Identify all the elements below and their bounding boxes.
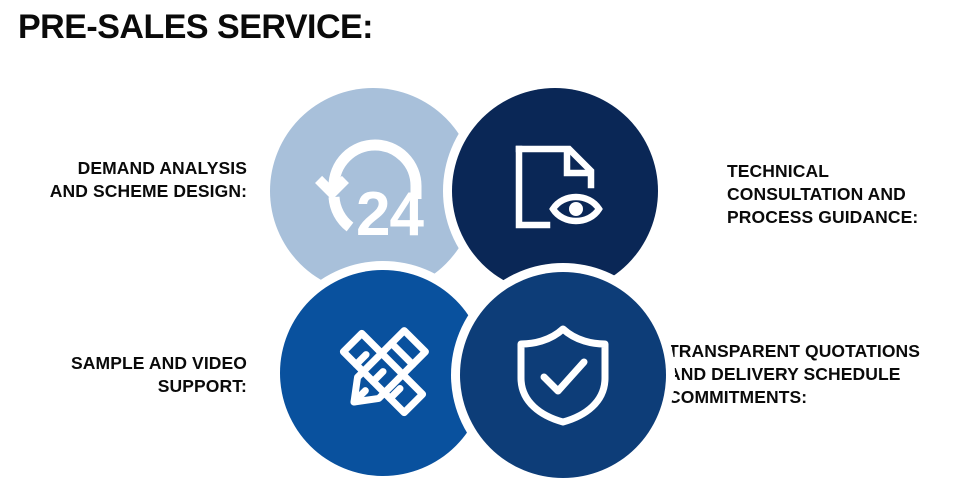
service-circle-quotations[interactable] (460, 272, 666, 478)
service-label-demand: DEMAND ANALYSIS AND SCHEME DESIGN: (0, 157, 247, 203)
document-eye-icon (503, 139, 607, 243)
service-circle-demand[interactable]: 24 (270, 88, 476, 294)
service-circle-cluster: 24 (262, 80, 682, 490)
shield-check-icon (513, 322, 613, 428)
service-label-technical: TECHNICAL CONSULTATION AND PROCESS GUIDA… (727, 160, 959, 228)
rotate-24-hours-icon: 24 (314, 137, 432, 245)
service-circle-technical[interactable] (452, 88, 658, 294)
pencil-ruler-icon (330, 320, 436, 426)
service-circle-sample[interactable] (280, 270, 486, 476)
service-label-sample: SAMPLE AND VIDEO SUPPORT: (0, 352, 247, 398)
service-label-quotations: TRANSPARENT QUOTATIONS AND DELIVERY SCHE… (668, 340, 960, 408)
svg-text:24: 24 (356, 180, 424, 245)
page-title: PRE-SALES SERVICE: (18, 8, 373, 47)
